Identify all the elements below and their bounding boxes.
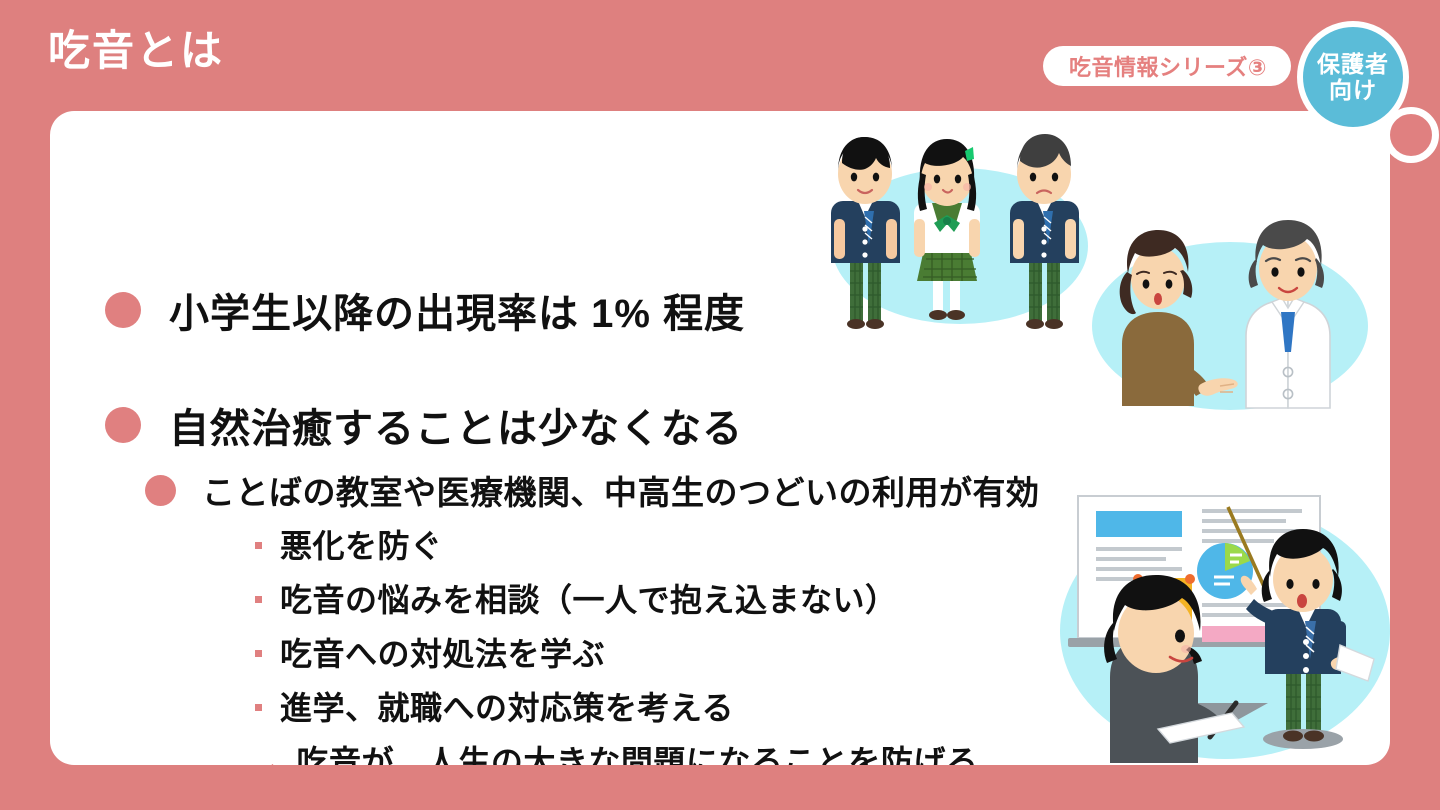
bullet-text: 吃音が、人生の大きな問題になることを防げる: [297, 737, 979, 765]
bullet-item: 進学、就職への対応策を考える: [255, 683, 734, 729]
bullet-item: 吃音の悩みを相談（一人で抱え込まない）: [255, 575, 898, 621]
page-title: 吃音とは: [48, 30, 224, 72]
bullet-dot-icon: [105, 407, 141, 443]
bullet-item: ことばの教室や医療機関、中高生のつどいの利用が有効: [145, 466, 1040, 514]
bullet-item: 悪化を防ぐ: [255, 521, 443, 567]
bullet-list: 小学生以降の出現率は 1% 程度 自然治癒することは少なくなる ことばの教室や医…: [50, 111, 1390, 765]
audience-badge-line2: 向け: [1329, 77, 1377, 103]
bullet-text: 進学、就職への対応策を考える: [280, 683, 734, 729]
bullet-dot-icon: [145, 475, 176, 506]
arrow-right-icon: →: [252, 747, 284, 765]
bullet-item-conclusion: → 吃音が、人生の大きな問題になることを防げる: [252, 737, 978, 765]
bullet-text: 悪化を防ぐ: [280, 521, 443, 567]
bullet-square-icon: [255, 650, 262, 657]
bullet-square-icon: [255, 704, 262, 711]
bullet-text: ことばの教室や医療機関、中高生のつどいの利用が有効: [202, 466, 1040, 514]
bullet-dot-icon: [105, 292, 141, 328]
bullet-text: 吃音の悩みを相談（一人で抱え込まない）: [280, 575, 898, 621]
audience-badge: 保護者 向け: [1297, 21, 1409, 133]
series-badge-label: 吃音情報シリーズ③: [1069, 50, 1267, 82]
bullet-text: 吃音への対処法を学ぶ: [280, 629, 605, 675]
bullet-text: 小学生以降の出現率は 1% 程度: [169, 281, 745, 339]
bullet-item: 小学生以降の出現率は 1% 程度: [105, 281, 745, 339]
content-card: 小学生以降の出現率は 1% 程度 自然治癒することは少なくなる ことばの教室や医…: [50, 111, 1390, 765]
bullet-text: 自然治癒することは少なくなる: [169, 396, 743, 454]
bullet-square-icon: [255, 542, 262, 549]
bullet-square-icon: [255, 596, 262, 603]
bullet-item: 吃音への対処法を学ぶ: [255, 629, 605, 675]
bullet-item: 自然治癒することは少なくなる: [105, 396, 743, 454]
presentation-slide: 吃音とは 吃音情報シリーズ③ 保護者 向け: [0, 0, 1440, 810]
series-badge: 吃音情報シリーズ③: [1043, 46, 1291, 86]
audience-badge-line1: 保護者: [1317, 51, 1389, 77]
